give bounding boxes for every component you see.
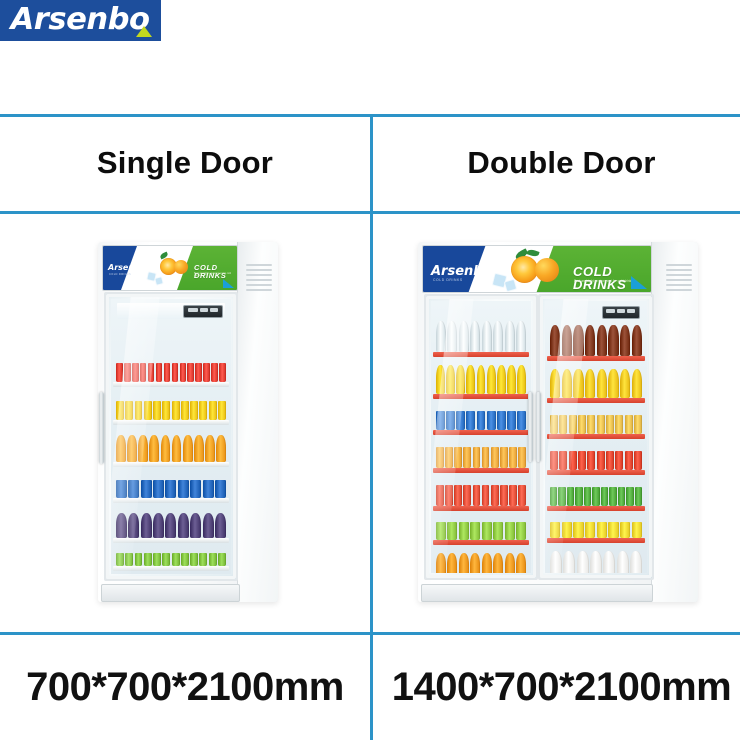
product-item bbox=[218, 401, 226, 420]
vent-slot bbox=[246, 289, 272, 291]
display-segment bbox=[606, 309, 615, 313]
product-row-green-packs bbox=[116, 553, 226, 566]
product-item bbox=[199, 553, 207, 566]
product-item bbox=[505, 553, 515, 573]
product-item bbox=[178, 513, 189, 538]
product-item bbox=[615, 415, 623, 434]
door-handle-left[interactable] bbox=[528, 392, 533, 462]
glass-door-single[interactable] bbox=[104, 292, 238, 581]
heading-single-door: Single Door bbox=[97, 145, 273, 181]
product-item bbox=[482, 485, 490, 506]
canopy-logo-text: Arsenbo bbox=[431, 265, 492, 278]
product-item bbox=[500, 485, 508, 506]
product-item bbox=[491, 485, 499, 506]
product-item bbox=[477, 365, 486, 394]
vent-slot bbox=[246, 264, 272, 266]
product-item bbox=[463, 447, 471, 468]
product-item bbox=[585, 325, 595, 356]
display-segment bbox=[627, 309, 635, 313]
product-item bbox=[487, 411, 496, 430]
vent-slot bbox=[246, 269, 272, 271]
brand-triangle-icon bbox=[136, 26, 152, 37]
product-item bbox=[162, 553, 170, 566]
product-cell-single-door: Arsenbo COLD DRINKS COLD DRINKS Best and… bbox=[0, 214, 370, 632]
product-item bbox=[470, 522, 480, 540]
heading-cell-double-door: Double Door bbox=[373, 114, 750, 211]
product-item bbox=[620, 325, 630, 356]
display-segment bbox=[188, 308, 198, 312]
brand-wordmark: Arsenbo bbox=[11, 5, 150, 35]
shelf-row bbox=[433, 551, 529, 573]
product-item bbox=[172, 401, 180, 420]
product-item bbox=[180, 363, 187, 382]
product-row-orange-bottles bbox=[436, 553, 526, 573]
vent-slot bbox=[666, 264, 692, 266]
product-item bbox=[194, 435, 204, 462]
product-item bbox=[620, 369, 630, 398]
product-item bbox=[477, 411, 486, 430]
product-item bbox=[459, 522, 469, 540]
product-item bbox=[491, 447, 499, 468]
product-item bbox=[597, 369, 607, 398]
product-item bbox=[473, 485, 481, 506]
product-item bbox=[219, 363, 226, 382]
temperature-display[interactable] bbox=[602, 306, 640, 319]
canopy-logo-text: Arsenbo bbox=[108, 264, 145, 272]
product-item bbox=[164, 363, 171, 382]
product-item bbox=[497, 411, 506, 430]
product-item bbox=[617, 551, 629, 573]
product-item bbox=[609, 487, 616, 506]
product-item bbox=[516, 553, 526, 573]
glass-door-right[interactable] bbox=[538, 294, 654, 580]
base-plinth bbox=[421, 584, 653, 602]
canopy-logo-subtext: COLD DRINKS bbox=[433, 279, 463, 282]
product-item bbox=[190, 480, 201, 498]
product-item bbox=[516, 522, 526, 540]
product-item bbox=[482, 522, 492, 540]
vent-slot bbox=[246, 274, 272, 276]
product-item bbox=[216, 435, 226, 462]
product-item bbox=[199, 401, 207, 420]
product-item bbox=[172, 363, 179, 382]
product-item bbox=[153, 401, 161, 420]
product-item bbox=[183, 435, 193, 462]
product-item bbox=[473, 447, 481, 468]
temperature-display[interactable] bbox=[183, 305, 223, 318]
product-item bbox=[601, 487, 608, 506]
product-item bbox=[585, 369, 595, 398]
product-item bbox=[516, 321, 526, 352]
product-item bbox=[509, 447, 517, 468]
product-item bbox=[181, 553, 189, 566]
product-item bbox=[517, 411, 526, 430]
shelf-row bbox=[547, 549, 645, 573]
product-row-white-bottles bbox=[550, 551, 642, 573]
vent-slot bbox=[666, 269, 692, 271]
product-item bbox=[626, 487, 633, 506]
product-item bbox=[518, 447, 526, 468]
product-item bbox=[507, 365, 516, 394]
product-item bbox=[518, 485, 526, 506]
product-item bbox=[218, 553, 226, 566]
canopy-header-single: Arsenbo COLD DRINKS COLD DRINKS Best and… bbox=[102, 245, 238, 291]
brand-banner: Arsenbo bbox=[0, 0, 161, 41]
product-item bbox=[517, 365, 526, 394]
product-item bbox=[203, 363, 210, 382]
product-item bbox=[482, 321, 492, 352]
product-item bbox=[587, 415, 595, 434]
product-item bbox=[459, 553, 469, 573]
product-item bbox=[141, 480, 152, 498]
product-item bbox=[153, 553, 161, 566]
product-item bbox=[634, 415, 642, 434]
product-item bbox=[635, 487, 642, 506]
product-item bbox=[161, 435, 171, 462]
product-item bbox=[178, 480, 189, 498]
product-item bbox=[597, 451, 605, 470]
canopy-subtitle: Best and right environment for cold drin… bbox=[574, 280, 633, 283]
display-segment bbox=[617, 309, 625, 313]
product-item bbox=[578, 451, 586, 470]
product-item bbox=[493, 553, 503, 573]
cabinet-side-panel bbox=[651, 242, 698, 602]
cabinet-side-panel bbox=[237, 242, 278, 602]
product-item bbox=[590, 551, 602, 573]
product-item bbox=[190, 401, 198, 420]
product-item bbox=[172, 553, 180, 566]
product-item bbox=[608, 522, 618, 538]
product-item bbox=[606, 415, 614, 434]
product-item bbox=[209, 553, 217, 566]
product-item bbox=[597, 522, 607, 538]
canopy-subtitle: Best and right environment for cold drin… bbox=[194, 273, 237, 278]
product-item bbox=[493, 522, 503, 540]
product-item bbox=[573, 522, 583, 538]
product-item bbox=[195, 363, 202, 382]
dimension-double-door: 1400*700*2100mm bbox=[392, 665, 731, 710]
product-item bbox=[487, 365, 496, 394]
product-item bbox=[203, 480, 214, 498]
product-item bbox=[603, 551, 615, 573]
door-handle[interactable] bbox=[99, 392, 104, 464]
product-item bbox=[608, 325, 618, 356]
product-item bbox=[153, 480, 164, 498]
product-item bbox=[165, 513, 176, 538]
product-item bbox=[454, 485, 462, 506]
product-item bbox=[181, 401, 189, 420]
product-item bbox=[165, 480, 176, 498]
product-item bbox=[618, 487, 625, 506]
canopy-logo-subtext: COLD DRINKS bbox=[109, 274, 131, 277]
product-item bbox=[505, 522, 515, 540]
product-item bbox=[592, 487, 599, 506]
product-item bbox=[606, 451, 614, 470]
product-item bbox=[463, 485, 471, 506]
product-item bbox=[466, 411, 475, 430]
product-item bbox=[153, 513, 164, 538]
product-item bbox=[470, 553, 480, 573]
dimension-cell-single-door: 700*700*2100mm bbox=[0, 635, 370, 740]
product-item bbox=[172, 435, 182, 462]
product-item bbox=[466, 365, 475, 394]
product-item bbox=[505, 321, 515, 352]
vent-slot bbox=[666, 284, 692, 286]
product-item bbox=[597, 415, 605, 434]
heading-cell-single-door: Single Door bbox=[0, 114, 370, 211]
display-segment bbox=[200, 308, 208, 312]
vent-slot bbox=[246, 279, 272, 281]
product-item bbox=[493, 321, 503, 352]
product-item bbox=[563, 551, 575, 573]
dimension-cell-double-door: 1400*700*2100mm bbox=[373, 635, 750, 740]
product-item bbox=[632, 369, 642, 398]
orange-icon bbox=[535, 258, 559, 282]
product-item bbox=[149, 435, 159, 462]
product-item bbox=[625, 415, 633, 434]
product-item bbox=[634, 451, 642, 470]
glass-door-left[interactable] bbox=[424, 294, 538, 580]
vent-slot bbox=[246, 284, 272, 286]
product-item bbox=[203, 513, 214, 538]
dimension-single-door: 700*700*2100mm bbox=[26, 665, 344, 710]
product-item bbox=[187, 363, 194, 382]
product-item bbox=[162, 401, 170, 420]
product-item bbox=[482, 447, 490, 468]
display-segment bbox=[210, 308, 218, 312]
product-item bbox=[578, 415, 586, 434]
base-plinth bbox=[101, 584, 240, 602]
product-comparison-page: Arsenbo Single Door Double Door bbox=[0, 0, 750, 750]
product-item bbox=[632, 325, 642, 356]
vent-slot bbox=[666, 274, 692, 276]
product-item bbox=[144, 553, 152, 566]
double-door-cooler-image: Arsenbo COLD DRINKS COLD DRINKS Best and… bbox=[418, 242, 698, 602]
product-item bbox=[615, 451, 623, 470]
product-item bbox=[584, 487, 591, 506]
product-item bbox=[205, 435, 215, 462]
product-item bbox=[507, 411, 516, 430]
vent-slot bbox=[666, 289, 692, 291]
orange-icon bbox=[174, 260, 188, 274]
product-item bbox=[141, 513, 152, 538]
product-item bbox=[577, 551, 589, 573]
canopy-accent-triangle-icon bbox=[223, 279, 234, 288]
product-item bbox=[500, 447, 508, 468]
heading-double-door: Double Door bbox=[467, 145, 655, 181]
product-item bbox=[482, 553, 492, 573]
canopy-accent-triangle-icon bbox=[631, 276, 647, 289]
door-handle-right[interactable] bbox=[536, 392, 541, 462]
product-item bbox=[620, 522, 630, 538]
product-item bbox=[215, 480, 226, 498]
orange-slice-icon bbox=[511, 256, 538, 283]
canopy-header-double: Arsenbo COLD DRINKS COLD DRINKS Best and… bbox=[422, 245, 652, 293]
product-item bbox=[190, 553, 198, 566]
product-item bbox=[509, 485, 517, 506]
product-item bbox=[215, 513, 226, 538]
product-item bbox=[632, 522, 642, 538]
vent-slot bbox=[666, 279, 692, 281]
product-item bbox=[497, 365, 506, 394]
product-item bbox=[135, 553, 143, 566]
product-item bbox=[447, 553, 457, 573]
product-item bbox=[585, 522, 595, 538]
product-item bbox=[625, 451, 633, 470]
product-item bbox=[597, 325, 607, 356]
product-cell-double-door: Arsenbo COLD DRINKS COLD DRINKS Best and… bbox=[373, 214, 750, 632]
product-item bbox=[470, 321, 480, 352]
product-item bbox=[156, 363, 163, 382]
product-item bbox=[211, 363, 218, 382]
single-door-cooler-image: Arsenbo COLD DRINKS COLD DRINKS Best and… bbox=[98, 242, 278, 602]
product-item bbox=[608, 369, 618, 398]
product-item bbox=[630, 551, 642, 573]
product-item bbox=[209, 401, 217, 420]
product-item bbox=[190, 513, 201, 538]
product-item bbox=[575, 487, 582, 506]
product-item bbox=[587, 451, 595, 470]
